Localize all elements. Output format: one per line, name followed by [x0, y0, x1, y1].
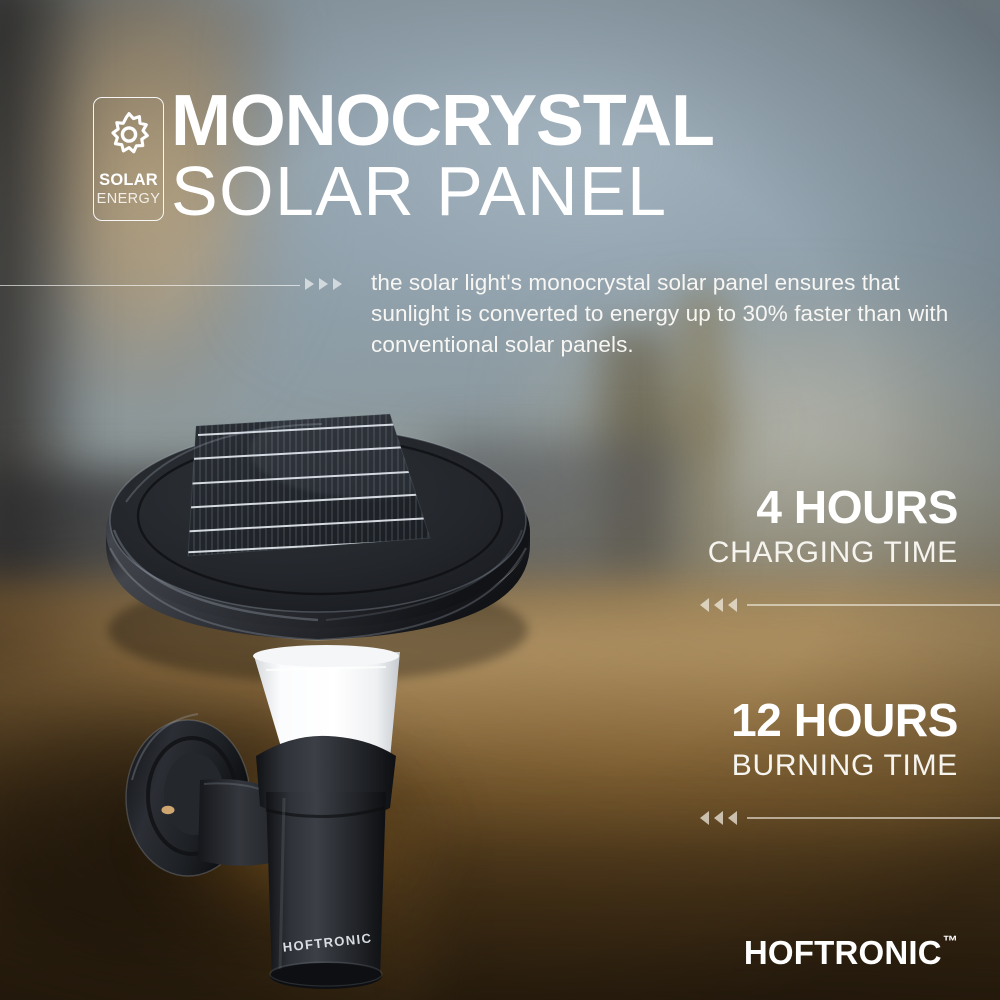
triple-right-arrow-icon — [305, 278, 342, 290]
badge-line-2: ENERGY — [97, 192, 161, 207]
trademark-symbol: ™ — [943, 934, 958, 949]
left-arrow-icon — [700, 598, 709, 612]
infographic-canvas: HOFTRONIC — [0, 0, 1000, 1000]
brand-logo: HOFTRONIC ™ — [744, 934, 958, 972]
solar-energy-badge: SOLAR ENERGY — [93, 97, 164, 221]
right-arrow-icon — [319, 278, 328, 290]
stat-divider-line — [747, 604, 1000, 605]
description-rule — [0, 285, 300, 286]
badge-line-1: SOLAR — [99, 172, 158, 189]
product-image-solar-wall-lamp: HOFTRONIC — [70, 380, 590, 1000]
left-arrow-icon — [714, 598, 723, 612]
triple-left-arrow-icon — [700, 811, 1000, 825]
stat-burning-time: 12 HOURS BURNING TIME — [731, 697, 958, 782]
stat-value: 12 HOURS — [731, 697, 958, 745]
right-arrow-icon — [333, 278, 342, 290]
stat-value: 4 HOURS — [708, 484, 958, 532]
stat-charging-time: 4 HOURS CHARGING TIME — [708, 484, 958, 569]
left-arrow-icon — [700, 811, 709, 825]
triple-left-arrow-icon — [700, 598, 1000, 612]
stat-divider-line — [747, 817, 1000, 818]
brand-name: HOFTRONIC — [744, 934, 942, 972]
page-title: MONOCRYSTAL SOLAR PANEL — [171, 88, 714, 226]
stat-label: BURNING TIME — [731, 749, 958, 782]
right-arrow-icon — [305, 278, 314, 290]
sun-gear-icon — [105, 111, 153, 159]
left-arrow-icon — [728, 598, 737, 612]
left-arrow-icon — [728, 811, 737, 825]
lamp-body: HOFTRONIC — [256, 736, 396, 989]
title-light-line: SOLAR PANEL — [171, 156, 714, 226]
left-arrow-icon — [714, 811, 723, 825]
solar-panel-head — [106, 390, 530, 640]
title-bold-line: MONOCRYSTAL — [171, 88, 714, 154]
description-text: the solar light's monocrystal solar pane… — [371, 268, 961, 360]
stat-label: CHARGING TIME — [708, 536, 958, 569]
